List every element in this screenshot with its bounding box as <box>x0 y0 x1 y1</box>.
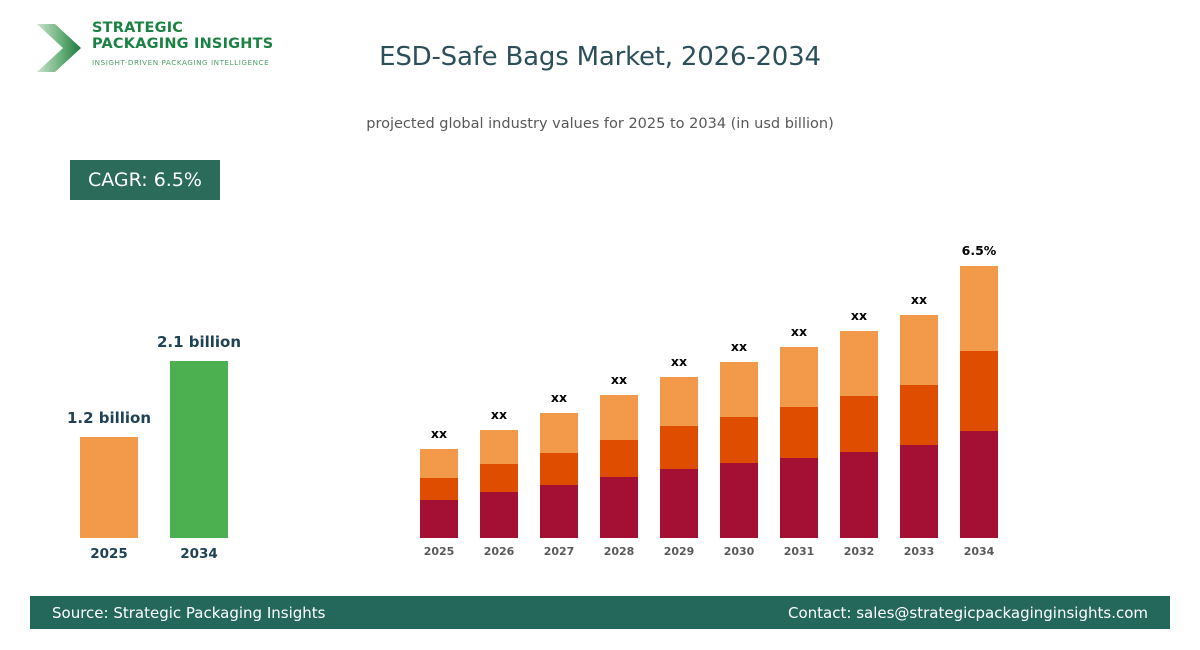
forecast-x-axis-label: 2031 <box>774 545 824 558</box>
overview-x-axis-label: 2025 <box>80 546 138 562</box>
forecast-bar-segment-top[interactable] <box>840 331 878 396</box>
forecast-bar-segment-middle[interactable] <box>780 407 818 458</box>
overview-bar-chart: 1.2 billion20252.1 billion2034 <box>40 300 300 570</box>
overview-bar-value-label: 1.2 billion <box>24 409 194 427</box>
forecast-bar-stack[interactable] <box>840 331 878 538</box>
forecast-bar-segment-bottom[interactable] <box>840 452 878 538</box>
forecast-bar-group: xx2028 <box>600 224 638 560</box>
forecast-bar-stack[interactable] <box>660 377 698 538</box>
forecast-bar-value-label: xx <box>464 407 534 422</box>
page-subtitle: projected global industry values for 202… <box>0 116 1200 132</box>
forecast-bar-group: 6.5%2034 <box>960 224 998 560</box>
forecast-bar-stack[interactable] <box>480 430 518 538</box>
forecast-bar-segment-top[interactable] <box>480 430 518 465</box>
forecast-x-axis-label: 2032 <box>834 545 884 558</box>
forecast-bar-segment-middle[interactable] <box>480 464 518 491</box>
footer-bar: Source: Strategic Packaging Insights Con… <box>30 596 1170 629</box>
forecast-bar-segment-bottom[interactable] <box>960 431 998 538</box>
forecast-bar-segment-top[interactable] <box>540 413 578 453</box>
overview-x-axis-label: 2034 <box>170 546 228 562</box>
forecast-x-axis-label: 2034 <box>954 545 1004 558</box>
forecast-bar-stack[interactable] <box>600 395 638 538</box>
forecast-bar-value-label: xx <box>704 339 774 354</box>
forecast-bar-value-label: xx <box>584 372 654 387</box>
forecast-bar-segment-bottom[interactable] <box>540 485 578 538</box>
forecast-bar-segment-middle[interactable] <box>960 351 998 431</box>
forecast-x-axis-label: 2027 <box>534 545 584 558</box>
forecast-bar-segment-top[interactable] <box>420 449 458 478</box>
forecast-bar-segment-bottom[interactable] <box>900 445 938 538</box>
forecast-bar-segment-top[interactable] <box>960 266 998 351</box>
forecast-bar-segment-top[interactable] <box>600 395 638 440</box>
overview-bar-group <box>80 437 138 538</box>
forecast-x-axis-label: 2030 <box>714 545 764 558</box>
forecast-x-axis-label: 2033 <box>894 545 944 558</box>
forecast-bar-segment-middle[interactable] <box>420 478 458 500</box>
forecast-bar-group: xx2031 <box>780 224 818 560</box>
forecast-bar-segment-bottom[interactable] <box>480 492 518 538</box>
forecast-bar-stack[interactable] <box>960 266 998 538</box>
forecast-bar-stack[interactable] <box>900 315 938 538</box>
forecast-stacked-bar-chart: xx2025xx2026xx2027xx2028xx2029xx2030xx20… <box>408 200 1008 560</box>
forecast-bar-segment-bottom[interactable] <box>600 477 638 538</box>
forecast-bar-segment-top[interactable] <box>780 347 818 407</box>
forecast-bar-group: xx2027 <box>540 224 578 560</box>
overview-bar[interactable] <box>170 361 228 538</box>
forecast-bar-group: xx2029 <box>660 224 698 560</box>
forecast-bar-value-label: xx <box>644 354 714 369</box>
forecast-bar-segment-middle[interactable] <box>600 440 638 477</box>
forecast-x-axis-label: 2025 <box>414 545 464 558</box>
forecast-bar-segment-bottom[interactable] <box>660 469 698 538</box>
forecast-bar-value-label: xx <box>884 292 954 307</box>
cagr-badge: CAGR: 6.5% <box>70 160 220 200</box>
forecast-bar-stack[interactable] <box>720 362 758 538</box>
footer-source: Source: Strategic Packaging Insights <box>52 604 325 622</box>
footer-contact[interactable]: Contact: sales@strategicpackaginginsight… <box>788 604 1148 622</box>
forecast-x-axis-label: 2028 <box>594 545 644 558</box>
forecast-bar-group: xx2033 <box>900 224 938 560</box>
forecast-bar-segment-top[interactable] <box>720 362 758 417</box>
forecast-bar-segment-middle[interactable] <box>720 417 758 463</box>
forecast-bar-value-label: xx <box>764 324 834 339</box>
forecast-bar-stack[interactable] <box>780 347 818 538</box>
forecast-x-axis-label: 2026 <box>474 545 524 558</box>
forecast-bar-group: xx2025 <box>420 224 458 560</box>
forecast-bar-value-label: 6.5% <box>944 243 1014 258</box>
forecast-x-axis-label: 2029 <box>654 545 704 558</box>
forecast-bar-segment-middle[interactable] <box>900 385 938 445</box>
overview-bar[interactable] <box>80 437 138 538</box>
forecast-bar-group: xx2030 <box>720 224 758 560</box>
forecast-bar-group: xx2032 <box>840 224 878 560</box>
forecast-bar-segment-middle[interactable] <box>840 396 878 451</box>
forecast-bar-segment-middle[interactable] <box>540 453 578 486</box>
forecast-bar-segment-bottom[interactable] <box>720 463 758 538</box>
forecast-bar-segment-bottom[interactable] <box>420 500 458 538</box>
forecast-bar-stack[interactable] <box>540 413 578 538</box>
forecast-bar-value-label: xx <box>824 308 894 323</box>
forecast-bar-value-label: xx <box>404 426 474 441</box>
forecast-bar-segment-middle[interactable] <box>660 426 698 469</box>
overview-bar-group <box>170 361 228 538</box>
forecast-bar-group: xx2026 <box>480 224 518 560</box>
forecast-bar-segment-top[interactable] <box>900 315 938 385</box>
forecast-bar-value-label: xx <box>524 390 594 405</box>
overview-bar-value-label: 2.1 billion <box>114 333 284 351</box>
forecast-bar-segment-bottom[interactable] <box>780 458 818 538</box>
page-title: ESD-Safe Bags Market, 2026-2034 <box>0 42 1200 72</box>
forecast-bar-segment-top[interactable] <box>660 377 698 426</box>
forecast-bar-stack[interactable] <box>420 449 458 538</box>
logo-line-1: STRATEGIC <box>92 20 273 36</box>
